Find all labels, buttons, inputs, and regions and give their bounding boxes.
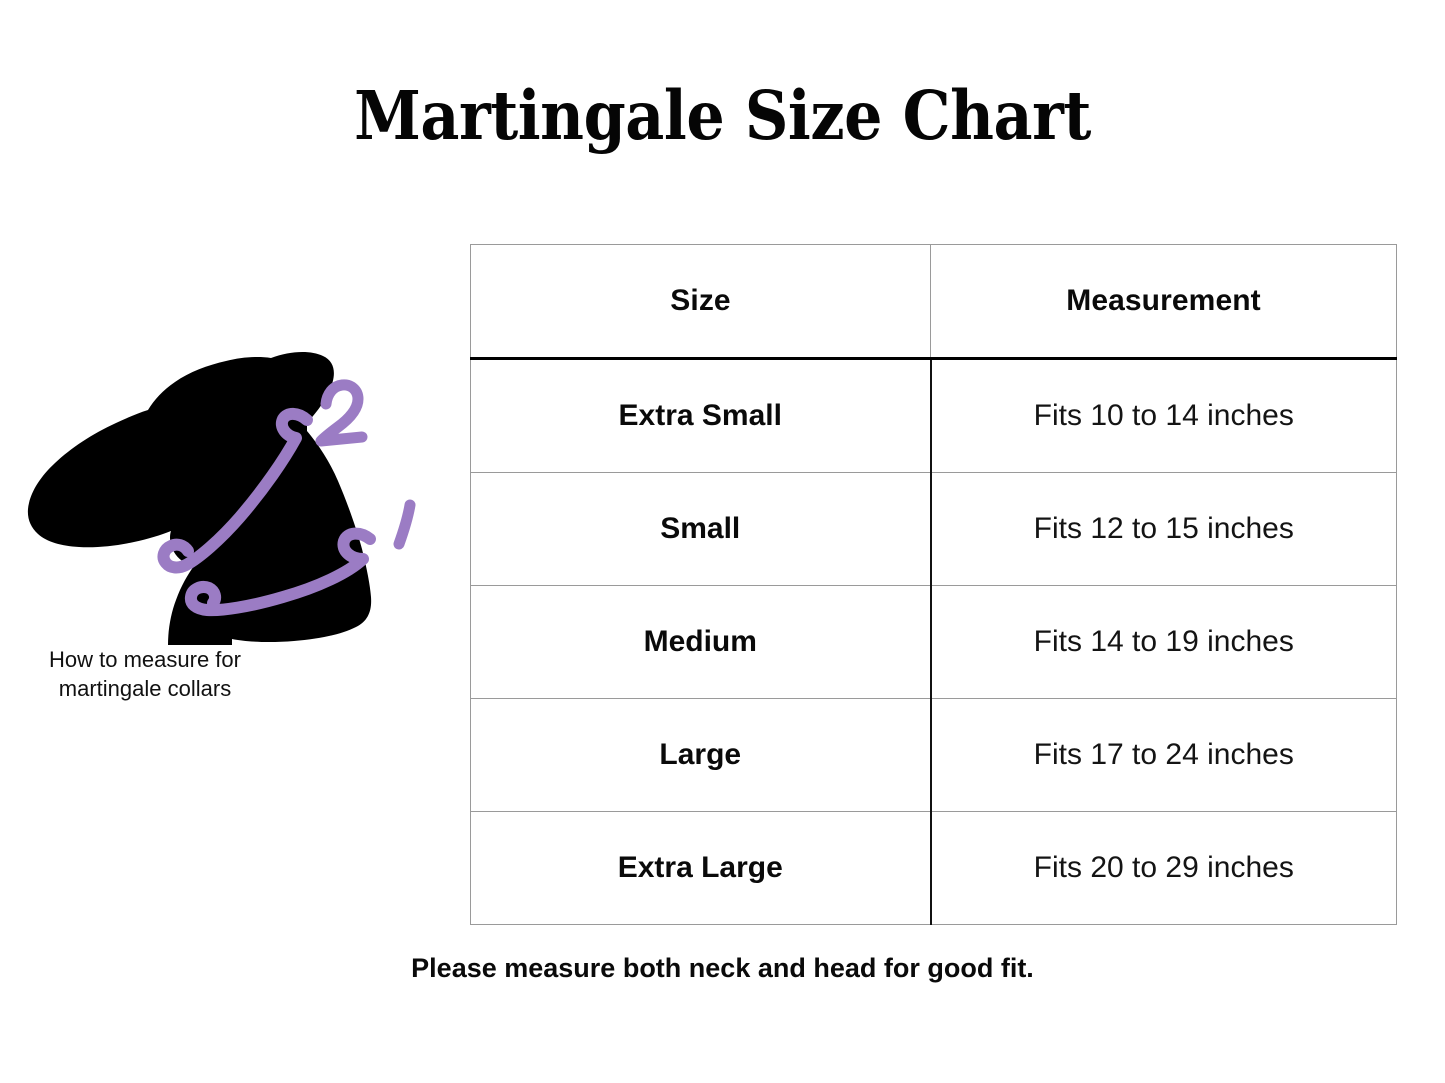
cell-measurement: Fits 17 to 24 inches <box>931 699 1397 812</box>
illustration-caption-line-1: How to measure for <box>0 645 290 674</box>
table-header-row: Size Measurement <box>471 245 1397 359</box>
table-row: Medium Fits 14 to 19 inches <box>471 586 1397 699</box>
cell-size: Small <box>471 473 931 586</box>
table-body: Extra Small Fits 10 to 14 inches Small F… <box>471 359 1397 925</box>
column-header-size: Size <box>471 245 931 359</box>
dog-measurement-illustration <box>18 345 438 645</box>
column-header-measurement: Measurement <box>931 245 1397 359</box>
cell-measurement: Fits 12 to 15 inches <box>931 473 1397 586</box>
cell-measurement: Fits 20 to 29 inches <box>931 812 1397 925</box>
page-title: Martingale Size Chart <box>72 76 1373 156</box>
table-row: Extra Small Fits 10 to 14 inches <box>471 359 1397 473</box>
size-chart-table: Size Measurement Extra Small Fits 10 to … <box>470 244 1397 925</box>
table-header: Size Measurement <box>471 245 1397 359</box>
cell-size: Large <box>471 699 931 812</box>
cell-size: Extra Large <box>471 812 931 925</box>
cell-size: Extra Small <box>471 359 931 473</box>
dog-head-silhouette-shape <box>28 352 371 645</box>
table-row: Extra Large Fits 20 to 29 inches <box>471 812 1397 925</box>
cell-measurement: Fits 10 to 14 inches <box>931 359 1397 473</box>
table-row: Small Fits 12 to 15 inches <box>471 473 1397 586</box>
cell-measurement: Fits 14 to 19 inches <box>931 586 1397 699</box>
cell-size: Medium <box>471 586 931 699</box>
illustration-caption-line-2: martingale collars <box>0 674 290 703</box>
marker-2-label <box>321 385 362 441</box>
table-row: Large Fits 17 to 24 inches <box>471 699 1397 812</box>
footnote-text: Please measure both neck and head for go… <box>0 950 1445 986</box>
illustration-caption: How to measure for martingale collars <box>0 645 290 703</box>
size-chart-page: Martingale Size Chart <box>0 0 1445 1083</box>
marker-1-label <box>399 505 410 544</box>
